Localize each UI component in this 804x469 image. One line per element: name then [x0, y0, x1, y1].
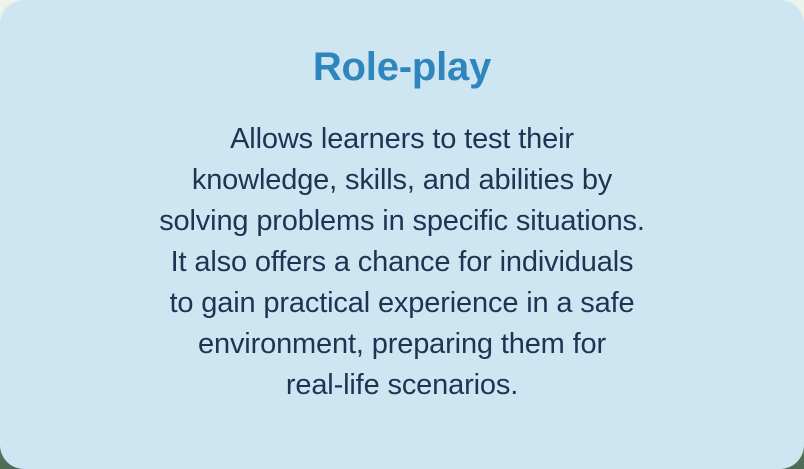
card-description: Allows learners to test their knowledge,…: [52, 119, 752, 406]
description-line: Allows learners to test their: [52, 119, 752, 160]
description-line: solving problems in specific situations.: [52, 201, 752, 242]
card-title: Role-play: [313, 47, 491, 87]
description-line: environment, preparing them for: [52, 324, 752, 365]
description-line: It also offers a chance for individuals: [52, 242, 752, 283]
role-play-card: Role-play Allows learners to test their …: [0, 0, 804, 469]
description-line: knowledge, skills, and abilities by: [52, 160, 752, 201]
description-line: real-life scenarios.: [52, 365, 752, 406]
description-line: to gain practical experience in a safe: [52, 283, 752, 324]
